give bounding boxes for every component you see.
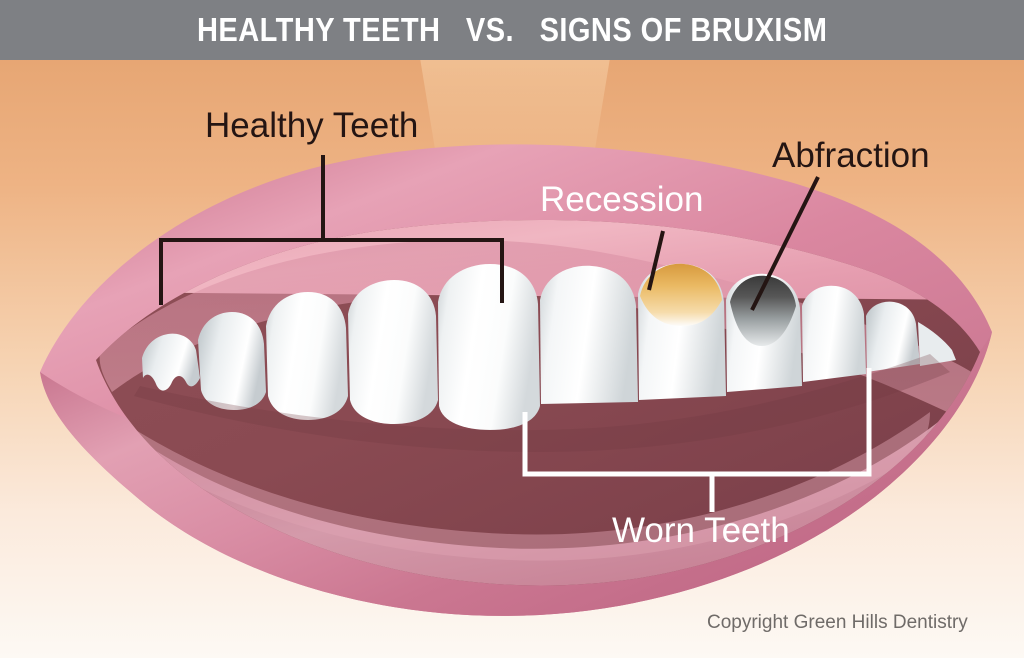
title-bar: HEALTHY TEETH VS. SIGNS OF BRUXISM (0, 0, 1024, 60)
mouth-illustration (0, 0, 1024, 658)
tooth-abfraction (726, 274, 802, 392)
label-abfraction: Abfraction (772, 136, 930, 176)
tooth-lateral-incisor-left (348, 280, 438, 424)
label-worn-teeth: Worn Teeth (612, 511, 790, 551)
infographic-page: HEALTHY TEETH VS. SIGNS OF BRUXISM Healt… (0, 0, 1024, 658)
tooth-worn-premolar (802, 286, 866, 382)
label-recession: Recession (540, 180, 703, 220)
tooth-central-incisor-left (438, 264, 540, 430)
page-title: HEALTHY TEETH VS. SIGNS OF BRUXISM (197, 11, 827, 49)
tooth-premolar-left (198, 312, 266, 410)
copyright-notice: Copyright Green Hills Dentistry (707, 612, 968, 634)
tooth-worn-central-incisor (540, 266, 638, 404)
label-healthy-teeth: Healthy Teeth (205, 106, 418, 146)
tooth-canine-left (266, 292, 348, 420)
